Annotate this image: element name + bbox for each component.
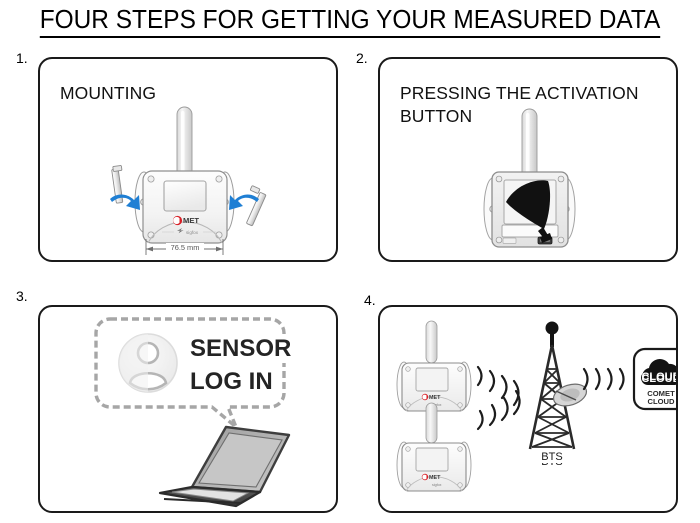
comet-logo: MET <box>173 216 199 225</box>
step-number-2: 2. <box>356 50 368 66</box>
user-avatar-icon <box>119 334 177 392</box>
step-number-4: 4. <box>364 292 376 308</box>
sensor-body: MET sigfox <box>143 171 227 243</box>
activation-button-illustration <box>380 59 676 260</box>
signal-arcs-a <box>478 367 519 405</box>
step-panel-1: MOUNTING <box>38 57 338 262</box>
bubble-line-1: SENSOR <box>188 335 293 363</box>
signal-arcs-cloud <box>584 369 624 389</box>
laptop-icon <box>160 427 289 506</box>
transmission-illustration: MET sigfox <box>380 307 676 511</box>
dimension-label-text: 76.5 mm <box>166 243 204 252</box>
page-title: FOUR STEPS FOR GETTING YOUR MEASURED DAT… <box>21 4 679 38</box>
signal-arcs-b <box>478 391 520 429</box>
cloud-badge-label: CLOUD <box>639 371 678 383</box>
svg-text:sigfox: sigfox <box>432 483 442 487</box>
step-panel-4: MET sigfox <box>378 305 678 513</box>
svg-text:sigfox: sigfox <box>186 230 199 235</box>
step-panel-3: SENSOR LOG IN SENSOR LOG IN <box>38 305 338 513</box>
step-panel-2: PRESSING THE ACTIVATION BUTTON <box>378 57 678 262</box>
svg-text:MET: MET <box>429 475 441 481</box>
screw-right <box>246 186 266 226</box>
cloud-caption-line-2: CLOUD <box>639 397 678 406</box>
antenna <box>522 109 537 181</box>
infographic-page: FOUR STEPS FOR GETTING YOUR MEASURED DAT… <box>0 0 700 523</box>
page-title-text: FOUR STEPS FOR GETTING YOUR MEASURED DAT… <box>40 4 661 38</box>
bts-label: BTS <box>530 451 574 463</box>
bts-tower: BTS <box>530 322 589 469</box>
step-number-3: 3. <box>16 288 28 304</box>
mounting-illustration: MET sigfox <box>40 59 336 260</box>
bubble-line-2: LOG IN <box>188 368 275 396</box>
step-number-1: 1. <box>16 50 28 66</box>
tower-dish <box>551 380 590 410</box>
svg-text:MET: MET <box>183 216 199 225</box>
